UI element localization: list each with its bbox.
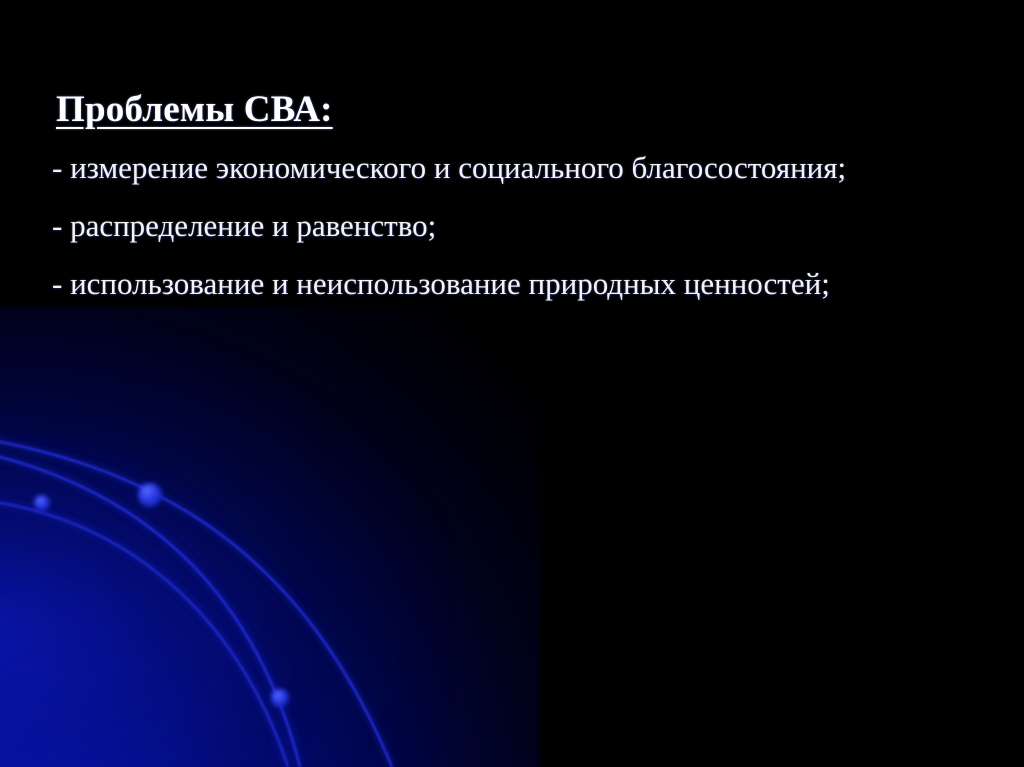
orbit-dot-lower [271,689,289,707]
arc-stroke-group [0,438,392,767]
orbit-dot-group [34,483,289,707]
arc-halo-group [0,438,392,767]
bullet-list: - измерение экономического и социального… [52,142,942,310]
orbit-arc-outer [0,438,392,767]
slide-content: Проблемы СВА: - измерение экономического… [52,86,942,316]
bullet-item-3: - использование и неиспользование природ… [52,258,880,310]
orbit-dot-small-left [34,495,50,511]
slide-canvas: Проблемы СВА: - измерение экономического… [0,0,1024,767]
bullet-item-2: - распределение и равенство; [52,200,880,252]
page-title: Проблемы СВА: [56,86,942,133]
orbit-dot-large [138,483,162,507]
bullet-item-1: - измерение экономического и социального… [52,142,880,194]
